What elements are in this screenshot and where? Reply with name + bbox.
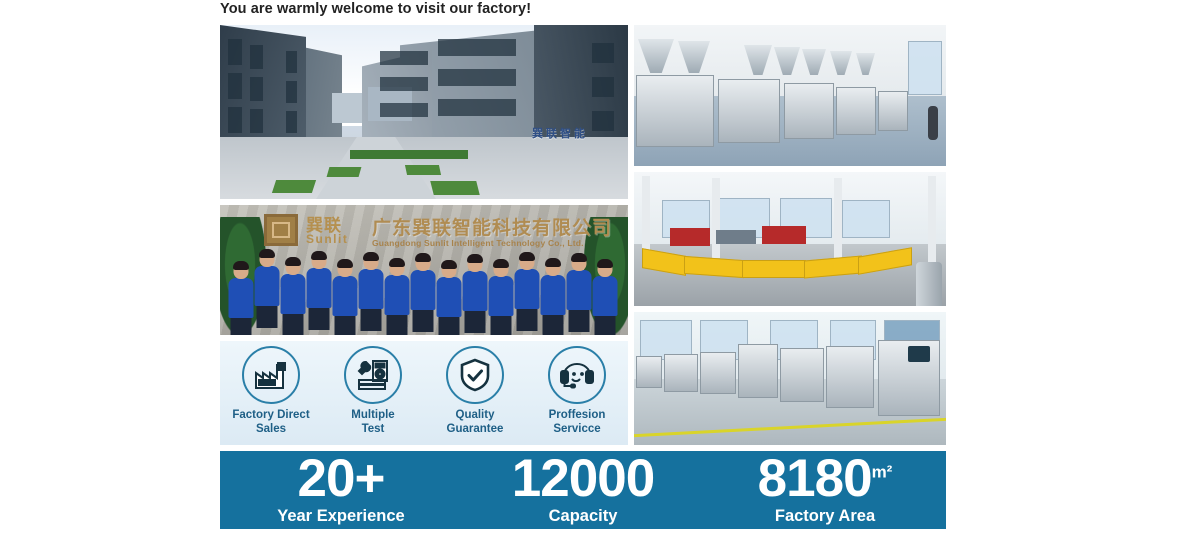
hedge	[350, 150, 468, 159]
machine-unit	[700, 352, 736, 394]
window	[842, 200, 890, 238]
shield-check-icon	[446, 346, 504, 404]
right-column	[634, 25, 946, 445]
control-panel	[908, 346, 930, 362]
machine-grey	[716, 230, 756, 244]
lawn-patch	[272, 180, 316, 193]
window-band	[380, 103, 428, 117]
feature-label: QualityGuarantee	[447, 408, 504, 436]
stat-number: 12000	[512, 454, 654, 505]
window	[592, 111, 614, 131]
window-band	[380, 77, 428, 91]
window	[228, 39, 242, 65]
machine-body	[718, 79, 780, 143]
company-logo-mark	[264, 214, 298, 246]
window	[228, 107, 242, 133]
company-sign-cn: 广东巽联智能科技有限公司	[372, 213, 612, 240]
content-area: 巽联智能 巽联 Sunlit 广东巽联智能科技有限公司 Guangdong Su…	[220, 25, 946, 536]
photo-production-line	[634, 312, 946, 445]
feature-factory-direct-sales[interactable]: Factory DirectSales	[220, 341, 322, 436]
photo-machines-row	[634, 25, 946, 166]
stat-caption: Factory Area	[775, 507, 875, 526]
building-distant-b	[332, 93, 362, 123]
building-signage: 巽联智能	[532, 125, 588, 141]
stat-number: 8180	[758, 449, 872, 508]
lawn-patch	[430, 181, 479, 195]
window	[286, 81, 297, 103]
steel-tank	[916, 262, 942, 306]
feature-label: ProffesionServicce	[549, 408, 606, 436]
stat-caption: Year Experience	[277, 507, 405, 526]
column	[834, 178, 842, 258]
machine-unit	[636, 356, 662, 388]
machine-red	[670, 228, 710, 246]
left-column: 巽联智能 巽联 Sunlit 广东巽联智能科技有限公司 Guangdong Su…	[220, 25, 628, 445]
lawn-patch	[405, 165, 441, 175]
machine-red	[762, 226, 806, 244]
machine-body	[784, 83, 834, 139]
column	[928, 176, 936, 262]
photo-team-group: 巽联 Sunlit 广东巽联智能科技有限公司 Guangdong Sunlit …	[220, 205, 628, 335]
machine-unit	[826, 346, 874, 408]
feature-multiple-test[interactable]: MultipleTest	[322, 341, 424, 436]
feature-quality-guarantee[interactable]: QualityGuarantee	[424, 341, 526, 436]
machine-unit	[780, 348, 824, 402]
window	[250, 77, 263, 101]
window	[908, 41, 942, 95]
brand-name-en: Sunlit	[306, 232, 348, 246]
lawn-patch	[327, 167, 362, 177]
team-members	[220, 249, 628, 335]
window-band	[438, 39, 516, 56]
company-sign-en: Guangdong Sunlit Intelligent Technology …	[372, 238, 584, 248]
window-band	[380, 51, 428, 65]
machine-body	[878, 91, 908, 131]
window	[228, 73, 242, 99]
machine-unit	[664, 354, 698, 392]
window	[286, 111, 297, 133]
stat-factory-area: 8180m² Factory Area	[704, 451, 946, 529]
feature-highlights-strip: Factory DirectSales	[220, 341, 628, 445]
photo-columns: 巽联智能 巽联 Sunlit 广东巽联智能科技有限公司 Guangdong Su…	[220, 25, 946, 445]
stat-capacity: 12000 Capacity	[462, 451, 704, 529]
feature-professional-service[interactable]: ProffesionServicce	[526, 341, 628, 436]
stat-number-wrap: 8180m²	[758, 454, 893, 505]
factory-introduction-page: You are warmly welcome to visit our fact…	[0, 0, 1200, 536]
photo-workshop-barriers	[634, 172, 946, 306]
machine-body	[836, 87, 876, 135]
column	[712, 178, 720, 258]
stat-number: 20+	[298, 454, 385, 505]
photo-factory-buildings: 巽联智能	[220, 25, 628, 199]
factory-icon	[242, 346, 300, 404]
window-band	[438, 99, 516, 116]
wrench-gear-icon	[344, 346, 402, 404]
statistics-bar: 20+ Year Experience 12000 Capacity 8180m…	[220, 451, 946, 529]
window	[286, 51, 297, 73]
feature-label: MultipleTest	[351, 408, 394, 436]
safety-barrier	[742, 260, 806, 278]
page-title: You are warmly welcome to visit our fact…	[220, 1, 531, 17]
headset-smiley-icon	[548, 346, 606, 404]
window	[250, 109, 263, 133]
machine-unit	[738, 344, 778, 398]
feature-label: Factory DirectSales	[232, 408, 309, 436]
window	[592, 43, 614, 63]
stat-caption: Capacity	[549, 507, 618, 526]
window-band	[438, 69, 516, 86]
machine-body	[636, 75, 714, 147]
window	[592, 77, 614, 97]
stat-unit: m²	[872, 462, 893, 481]
window	[250, 45, 263, 69]
stat-year-experience: 20+ Year Experience	[220, 451, 462, 529]
person-silhouette	[928, 106, 938, 140]
